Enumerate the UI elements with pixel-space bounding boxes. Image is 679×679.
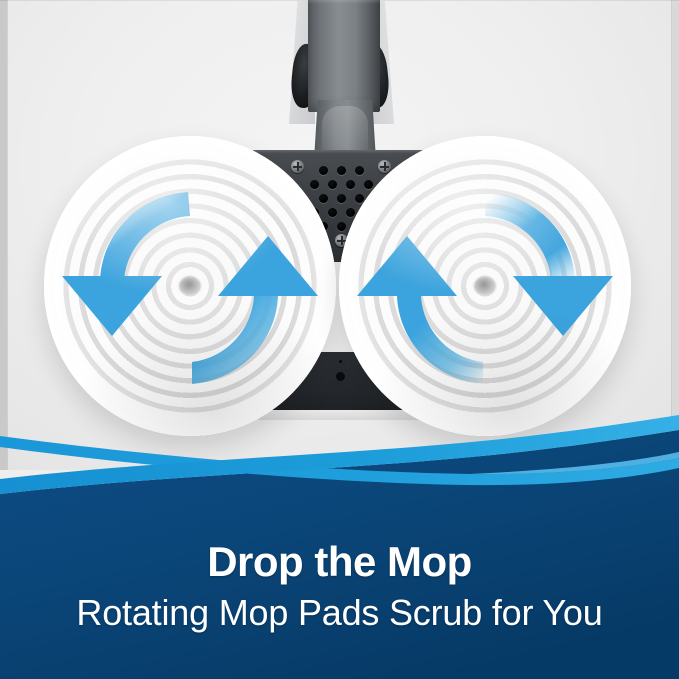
mop-photo <box>0 0 679 470</box>
right-rotation-arrow-icon <box>339 136 631 436</box>
left-pad-hub <box>179 277 201 295</box>
right-mop-pad <box>339 136 631 436</box>
right-pad-hub <box>474 277 496 295</box>
left-rotation-arrow-icon <box>44 136 336 436</box>
banner-headline: Drop the Mop <box>0 538 679 586</box>
banner-subheadline: Rotating Mop Pads Scrub for You <box>0 592 679 634</box>
left-mop-pad <box>44 136 336 436</box>
product-image: Drop the Mop Rotating Mop Pads Scrub for… <box>0 0 679 679</box>
mop-handle-shaft <box>308 0 380 112</box>
